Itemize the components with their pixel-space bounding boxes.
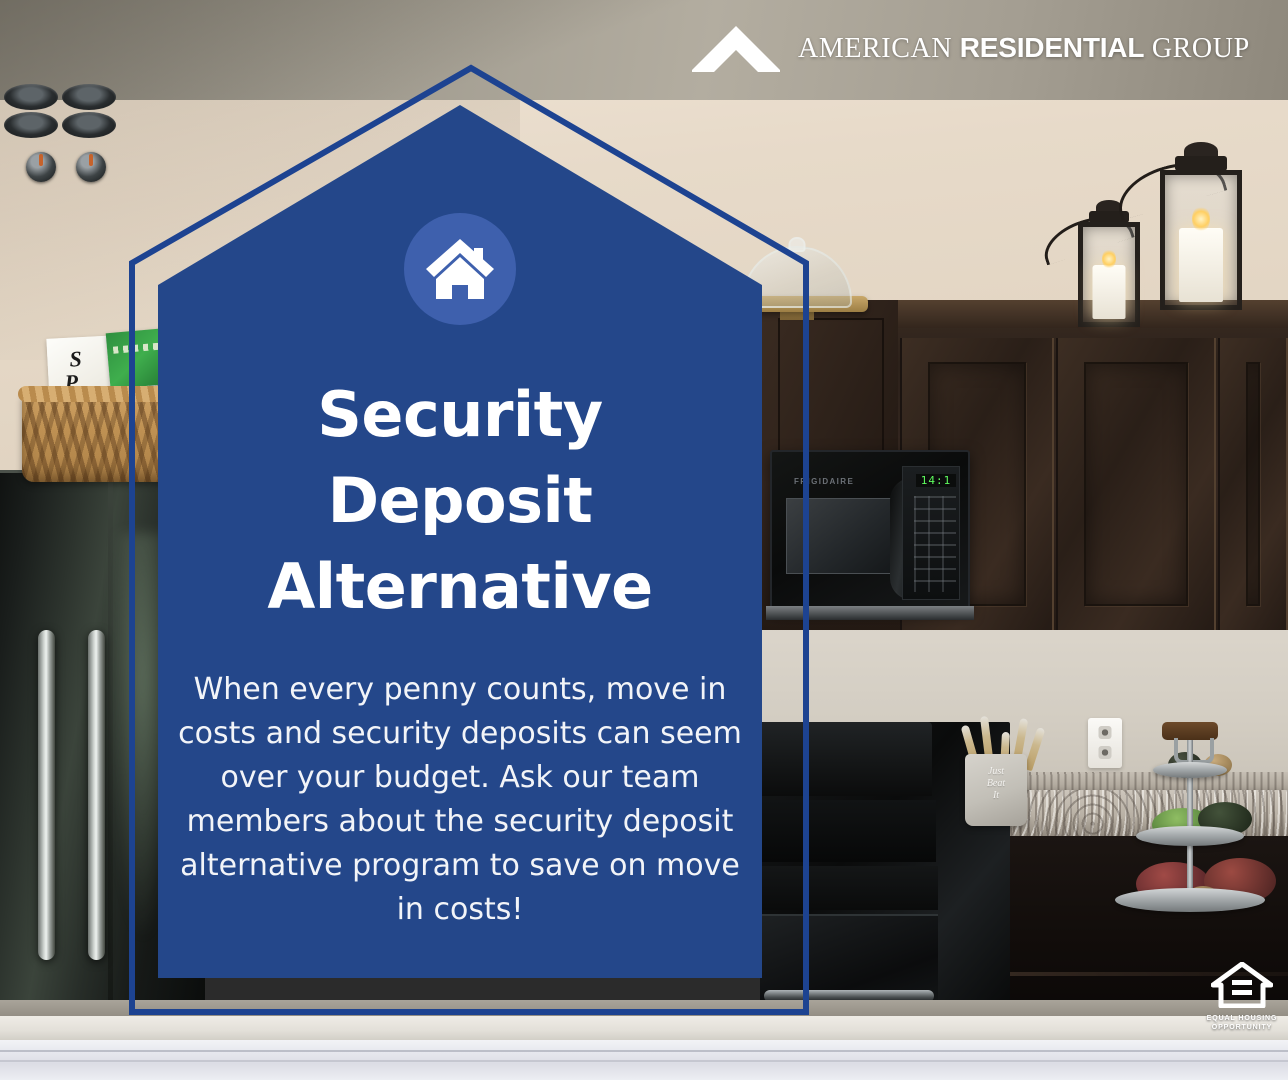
candle-flame-icon [1192, 206, 1210, 232]
wicker-basket [22, 392, 174, 482]
tray-handle [1162, 722, 1218, 740]
burner-1 [4, 84, 58, 110]
microwave-window [786, 498, 892, 574]
range-control-bar [760, 866, 938, 910]
lantern-large [1160, 170, 1242, 310]
equal-housing-opportunity-logo: EQUAL HOUSING OPPORTUNITY [1206, 962, 1278, 1034]
headline-line-3: Alternative [170, 544, 750, 630]
house-badge [404, 213, 516, 325]
equal-housing-line-1: EQUAL HOUSING [1206, 1015, 1278, 1024]
refrigerator-reflection [108, 533, 178, 953]
over-range-microwave: FRIGIDAIRE 14:1 [770, 450, 970, 610]
dome-knob [789, 237, 806, 252]
candle [1093, 265, 1126, 319]
range-knob-1 [26, 152, 56, 182]
candle-flame-icon [1102, 249, 1116, 269]
refrigerator-handle-left [38, 630, 55, 960]
body-copy: When every penny counts, move in costs a… [176, 668, 744, 932]
headline-line-1: Security [170, 372, 750, 458]
house-icon [424, 235, 496, 303]
counter-apron [0, 1040, 1288, 1080]
cabinet-door-2 [1056, 338, 1216, 630]
equal-housing-house-icon [1211, 962, 1273, 1008]
headline-line-2: Deposit [170, 458, 750, 544]
lantern-small [1078, 222, 1140, 327]
brand-name-part2: RESIDENTIAL [960, 32, 1144, 63]
lantern-cap [1175, 156, 1227, 171]
burner-3 [4, 112, 58, 138]
brand-name-part1: AMERICAN [798, 33, 960, 64]
burner-2 [62, 84, 116, 110]
equal-housing-text: EQUAL HOUSING OPPORTUNITY [1206, 1015, 1278, 1032]
microwave-underside [766, 606, 974, 620]
crock-label: JustBeatIt [965, 766, 1027, 802]
tray-tier-middle [1136, 826, 1244, 846]
tray-tier-top [1153, 762, 1227, 778]
brand-name: AMERICAN RESIDENTIAL GROUP [798, 32, 1250, 65]
page-title: Security Deposit Alternative [170, 372, 750, 630]
marketing-flyer: S P [0, 0, 1288, 1080]
tray-tier-bottom [1115, 888, 1265, 912]
brand-logo: AMERICAN RESIDENTIAL GROUP [692, 24, 1250, 72]
brand-name-part3: GROUP [1144, 33, 1250, 64]
range-knob-2 [76, 152, 106, 182]
refrigerator-handle-right [88, 630, 105, 960]
counter-ledge [0, 1016, 1288, 1042]
microwave-keypad [914, 496, 956, 592]
tiered-tray [1100, 660, 1280, 920]
chevron-roof-logo-icon [692, 24, 780, 72]
microwave-brand-label: FRIGIDAIRE [794, 477, 854, 486]
equal-housing-line-2: OPPORTUNITY [1206, 1024, 1278, 1033]
cabinet-left-panel [760, 300, 898, 470]
range-backguard [760, 722, 932, 796]
cabinet-door-3 [1218, 338, 1288, 630]
candle [1179, 228, 1223, 302]
utensil-crock: JustBeatIt [965, 754, 1027, 826]
range-cooktop [760, 800, 936, 862]
burner-4 [62, 112, 116, 138]
microwave-clock-display: 14:1 [916, 474, 956, 487]
